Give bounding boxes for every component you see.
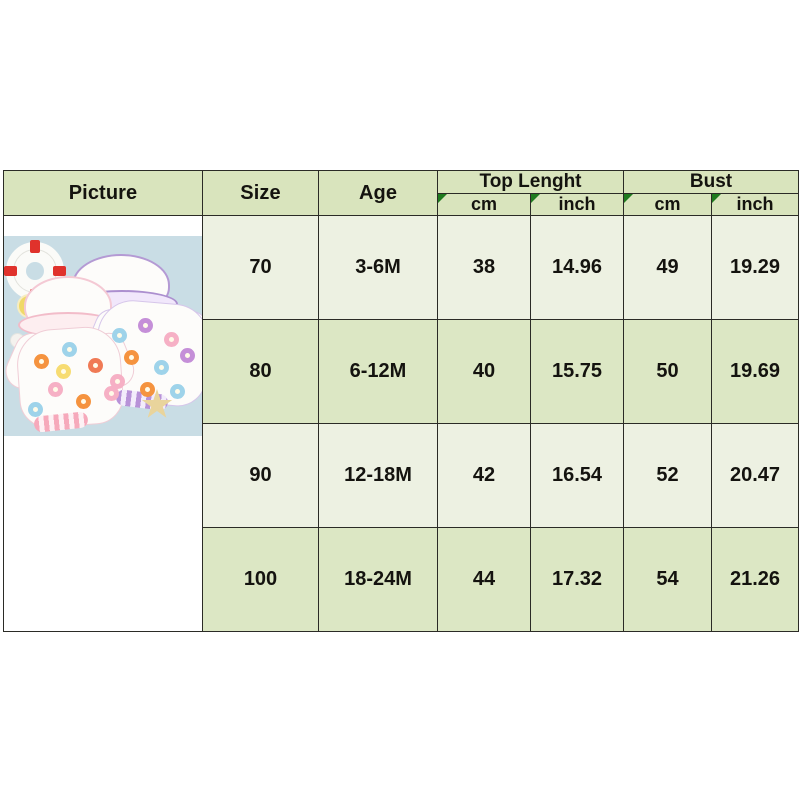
product-photo: ✭: [4, 236, 202, 436]
header-row-primary: Picture Size Age Top Lenght Bust: [4, 171, 799, 194]
lifebuoy-stripe-right: [53, 266, 66, 276]
cell-bust-inch: 19.29: [712, 216, 799, 320]
cell-top-inch: 14.96: [531, 216, 624, 320]
header-top-length-cm: cm: [438, 194, 531, 216]
cell-size: 80: [203, 320, 319, 424]
cell-top-cm: 40: [438, 320, 531, 424]
lifebuoy-stripe-left: [4, 266, 17, 276]
cell-age: 3-6M: [319, 216, 438, 320]
header-top-length-inch: inch: [531, 194, 624, 216]
flower-print: [76, 394, 91, 409]
header-picture: Picture: [4, 171, 203, 216]
flower-print: [112, 328, 127, 343]
header-top-length: Top Lenght: [438, 171, 624, 194]
flower-print: [62, 342, 77, 357]
size-chart-container: Picture Size Age Top Lenght Bust cm inch…: [3, 170, 798, 632]
flower-print: [124, 350, 139, 365]
cell-bust-inch: 19.69: [712, 320, 799, 424]
flower-print: [34, 354, 49, 369]
table-body: ✭ 70 3-6M 38 14.96 49 19.29 80 6-12M 40 …: [4, 216, 799, 632]
product-image-stack: ✭: [4, 216, 202, 631]
flower-print: [180, 348, 195, 363]
cell-bust-cm: 49: [624, 216, 712, 320]
flower-print: [154, 360, 169, 375]
flower-print: [164, 332, 179, 347]
cell-top-inch: 17.32: [531, 528, 624, 632]
table-header: Picture Size Age Top Lenght Bust cm inch…: [4, 171, 799, 216]
header-bust: Bust: [624, 171, 799, 194]
flower-print: [48, 382, 63, 397]
cell-top-cm: 42: [438, 424, 531, 528]
cell-bust-cm: 50: [624, 320, 712, 424]
header-bust-cm: cm: [624, 194, 712, 216]
header-size: Size: [203, 171, 319, 216]
cell-size: 100: [203, 528, 319, 632]
cell-top-cm: 44: [438, 528, 531, 632]
cell-age: 12-18M: [319, 424, 438, 528]
product-image-cell: ✭: [4, 216, 203, 632]
cell-age: 6-12M: [319, 320, 438, 424]
cell-age: 18-24M: [319, 528, 438, 632]
cell-size: 70: [203, 216, 319, 320]
flower-print: [138, 318, 153, 333]
starfish-icon: ✭: [140, 388, 174, 422]
header-bust-inch: inch: [712, 194, 799, 216]
flower-print: [56, 364, 71, 379]
cell-bust-inch: 21.26: [712, 528, 799, 632]
header-age: Age: [319, 171, 438, 216]
cell-bust-cm: 54: [624, 528, 712, 632]
cell-bust-cm: 52: [624, 424, 712, 528]
image-bottom-padding: [4, 436, 202, 631]
flower-print: [28, 402, 43, 417]
flower-print: [88, 358, 103, 373]
size-chart-table: Picture Size Age Top Lenght Bust cm inch…: [3, 170, 799, 632]
table-row: ✭ 70 3-6M 38 14.96 49 19.29: [4, 216, 799, 320]
image-top-padding: [4, 216, 202, 236]
cell-top-inch: 15.75: [531, 320, 624, 424]
cell-top-inch: 16.54: [531, 424, 624, 528]
lifebuoy-hole: [26, 262, 44, 280]
cell-top-cm: 38: [438, 216, 531, 320]
cell-bust-inch: 20.47: [712, 424, 799, 528]
cell-size: 90: [203, 424, 319, 528]
flower-print: [110, 374, 125, 389]
